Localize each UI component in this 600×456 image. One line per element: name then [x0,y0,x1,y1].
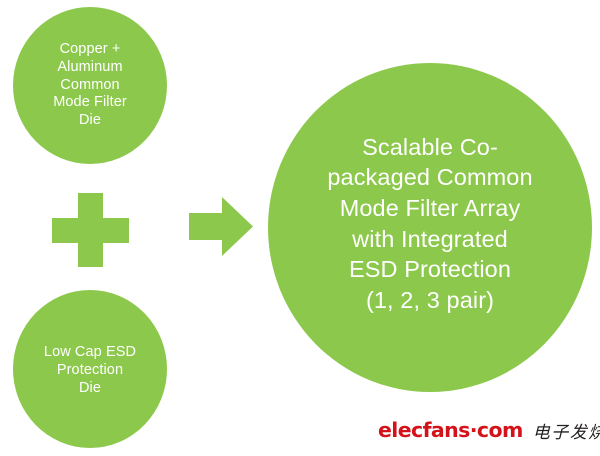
plus-icon-vertical-bar [78,193,103,267]
input-circle-copper-aluminum-cmf-die-label: Copper + Aluminum Common Mode Filter Die [43,41,137,131]
watermark-latin-text: elecfans·com [378,418,523,442]
input-circle-copper-aluminum-cmf-die[interactable]: Copper + Aluminum Common Mode Filter Die [13,7,167,164]
result-circle-label: Scalable Co- packaged Common Mode Filter… [315,132,544,315]
input-circle-low-cap-esd-die-label: Low Cap ESD Protection Die [36,344,144,398]
result-circle-scalable-co-packaged-array[interactable]: Scalable Co- packaged Common Mode Filter… [268,63,592,392]
arrow-right-icon [189,197,253,256]
plus-icon [52,193,129,267]
watermark-chinese-text: 电子发烧友 [533,418,600,443]
watermark: elecfans·com 电子发烧友 [378,412,593,448]
input-circle-low-cap-esd-die[interactable]: Low Cap ESD Protection Die [13,290,167,448]
diagram-canvas: Copper + Aluminum Common Mode Filter Die… [0,0,600,456]
